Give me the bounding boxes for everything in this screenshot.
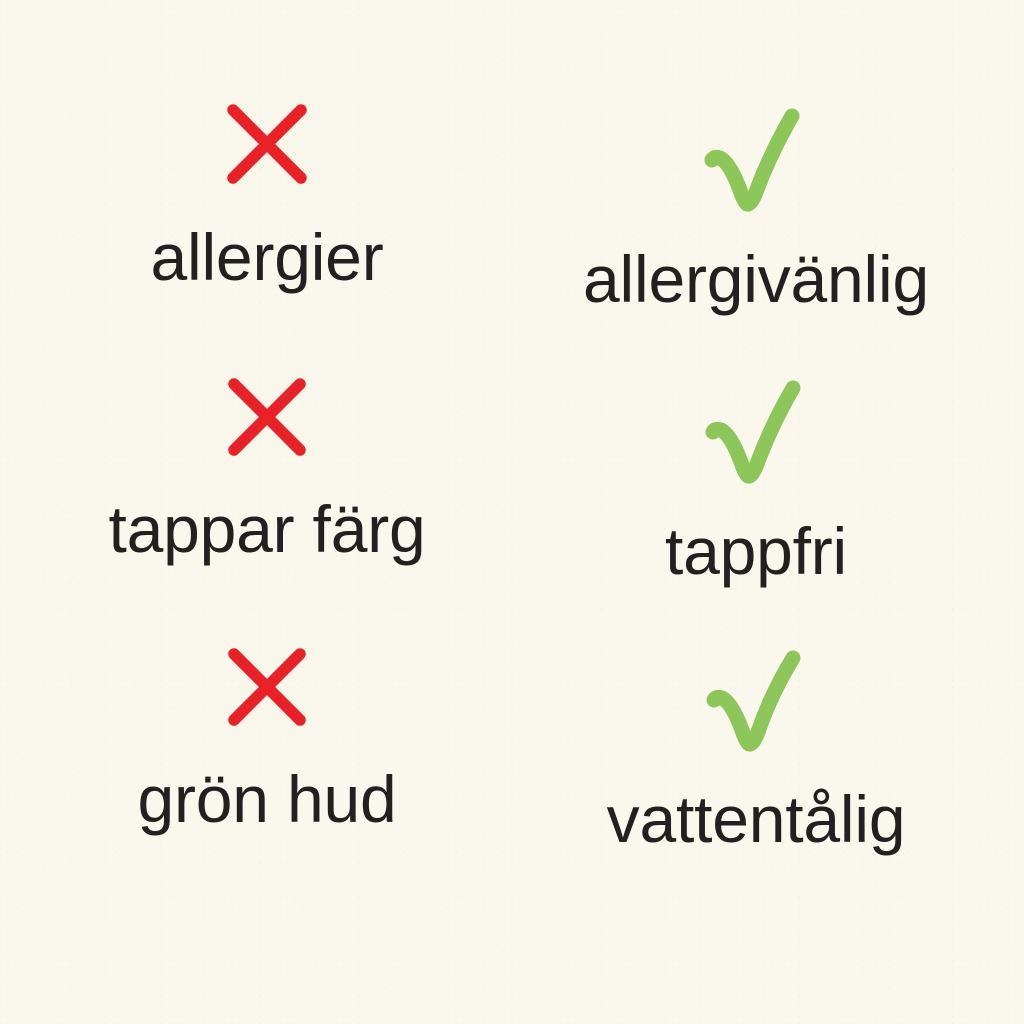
- comparison-cell-negative: tappar färg: [0, 378, 512, 562]
- comparison-label-negative: grön hud: [138, 766, 397, 832]
- cross-icon: [228, 378, 306, 456]
- comparison-label-negative: allergier: [151, 224, 384, 290]
- cross-icon: [227, 104, 307, 184]
- comparison-label-positive: vattentålig: [607, 786, 906, 852]
- comparison-label-positive: allergivänlig: [583, 246, 929, 312]
- comparison-cell-positive: vattentålig: [512, 648, 1024, 852]
- comparison-label-negative: tappar färg: [108, 496, 425, 562]
- comparison-label-positive: tappfri: [665, 518, 847, 584]
- comparison-graphic: allergier allergivänlig: [0, 0, 1024, 1024]
- comparison-grid: allergier allergivänlig: [0, 0, 1024, 1024]
- check-icon: [707, 648, 805, 756]
- comparison-cell-positive: allergivänlig: [512, 104, 1024, 312]
- comparison-cell-negative: allergier: [0, 104, 512, 290]
- comparison-cell-negative: grön hud: [0, 648, 512, 832]
- comparison-cell-positive: tappfri: [512, 378, 1024, 584]
- check-icon: [704, 104, 808, 216]
- cross-icon: [228, 648, 306, 726]
- check-icon: [705, 378, 807, 488]
